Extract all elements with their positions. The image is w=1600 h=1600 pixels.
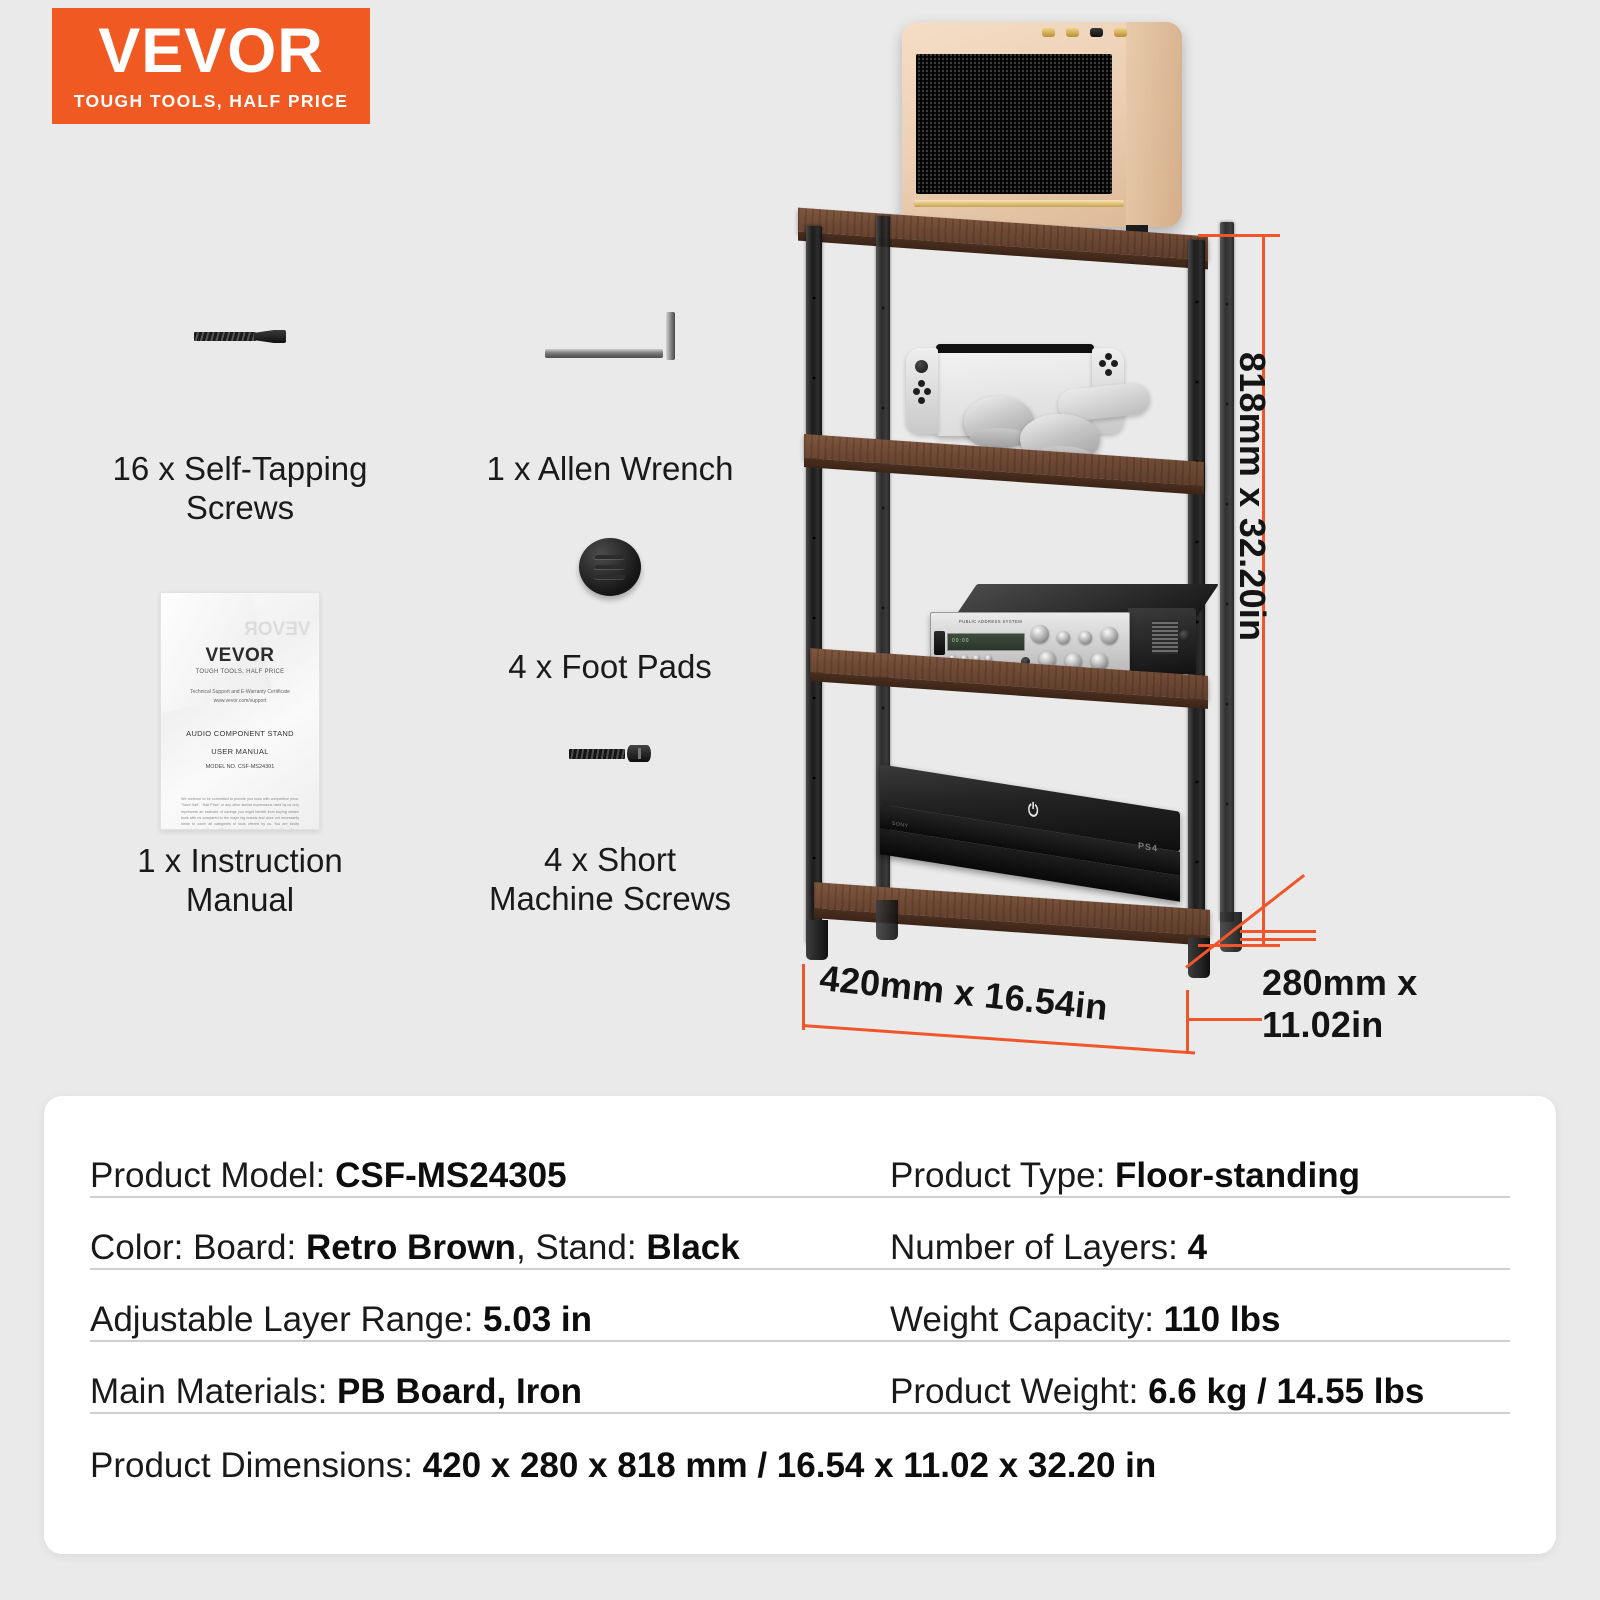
manual-ghost-brand: VEVOR [244, 619, 311, 641]
self-tapping-screw-icon [30, 300, 450, 450]
retro-bluetooth-speaker [902, 22, 1182, 227]
spec-layers: Number of Layers: 4 [890, 1228, 1510, 1268]
dim-width-line [802, 1024, 1195, 1054]
part-item-self-tapping-screws: 16 x Self-Tapping Screws [30, 300, 450, 528]
amplifier-lcd: 00:00 [952, 638, 970, 644]
spec-color: Color: Board: Retro Brown , Stand: Black [90, 1228, 890, 1268]
spec-row-materials-weight: Main Materials: PB Board, Iron Product W… [90, 1342, 1510, 1414]
instruction-manual-icon: VEVOR VEVOR TOUGH TOOLS, HALF PRICE Tech… [30, 590, 450, 842]
vevor-logo: VEVOR TOUGH TOOLS, HALF PRICE [52, 8, 370, 124]
infographic-page: VEVOR TOUGH TOOLS, HALF PRICE 16 x Self-… [0, 0, 1600, 1600]
dim-height-tick-top [1198, 234, 1280, 237]
spec-label-color: Color: Board: [90, 1228, 306, 1268]
spec-value-layers: 4 [1188, 1228, 1207, 1268]
spec-product-model: Product Model: CSF-MS24305 [90, 1156, 890, 1196]
spec-product-type: Product Type: Floor-standing [890, 1156, 1510, 1196]
spec-product-dimensions: Product Dimensions: 420 x 280 x 818 mm /… [90, 1446, 1510, 1486]
part-label-self-tapping-screws: 16 x Self-Tapping Screws [30, 450, 450, 528]
spec-value-main-materials: PB Board, Iron [337, 1372, 582, 1412]
manual-product-title: AUDIO COMPONENT STAND [161, 729, 319, 738]
spec-value-board-color: Retro Brown [306, 1228, 516, 1268]
stand-foot-front-left [806, 920, 828, 960]
dim-depth-label: 280mm x 11.02in [1262, 962, 1418, 1047]
spec-value-product-dimensions: 420 x 280 x 818 mm / 16.54 x 11.02 x 32.… [423, 1446, 1157, 1486]
spec-label-product-dimensions: Product Dimensions: [90, 1446, 423, 1486]
manual-tagline: TOUGH TOOLS, HALF PRICE [161, 669, 319, 675]
part-item-allen-wrench: 1 x Allen Wrench [400, 300, 820, 489]
dim-depth-tick-top2 [1240, 938, 1316, 941]
spec-value-weight-capacity: 110 lbs [1164, 1300, 1281, 1340]
part-label-allen-wrench: 1 x Allen Wrench [400, 450, 820, 489]
brand-tagline: TOUGH TOOLS, HALF PRICE [74, 91, 349, 112]
playstation-logo: ⏻ [1028, 799, 1038, 822]
spec-product-weight: Product Weight: 6.6 kg / 14.55 lbs [890, 1372, 1510, 1412]
dim-width-tick-left [802, 964, 805, 1030]
part-label-instruction-manual: 1 x Instruction Manual [30, 842, 450, 920]
spec-row-dimensions: Product Dimensions: 420 x 280 x 818 mm /… [90, 1414, 1510, 1486]
spec-label-product-weight: Product Weight: [890, 1372, 1148, 1412]
shelf-2-contents [820, 330, 1180, 450]
manual-model-line: MODEL NO. CSF-MS24301 [161, 764, 319, 770]
spec-weight-capacity: Weight Capacity: 110 lbs [890, 1300, 1510, 1340]
allen-wrench-icon [400, 300, 820, 450]
dim-width-tick-right [1186, 990, 1189, 1052]
amplifier-face-text: PUBLIC ADDRESS SYSTEM [959, 619, 1022, 624]
spec-label-product-type: Product Type: [890, 1156, 1115, 1196]
spec-adjustable-range: Adjustable Layer Range: 5.03 in [90, 1300, 890, 1340]
part-item-instruction-manual: VEVOR VEVOR TOUGH TOOLS, HALF PRICE Tech… [30, 590, 450, 920]
spec-value-stand-color: Black [646, 1228, 739, 1268]
part-label-foot-pads: 4 x Foot Pads [400, 648, 820, 687]
spec-value-product-type: Floor-standing [1115, 1156, 1360, 1196]
stand-foot-back-left [876, 900, 898, 940]
spec-value-product-weight: 6.6 kg / 14.55 lbs [1148, 1372, 1424, 1412]
spec-value-adjustable-range: 5.03 in [483, 1300, 592, 1340]
dim-height-label: 818mm x 32.20in [1232, 352, 1272, 641]
spec-label-stand-color: , Stand: [516, 1228, 646, 1268]
dim-depth-tick-top [1240, 930, 1316, 933]
manual-support-text: Technical Support and E-Warranty Certifi… [161, 688, 319, 705]
manual-doc-type: USER MANUAL [161, 747, 319, 756]
brand-wordmark: VEVOR [98, 20, 324, 83]
spec-label-weight-capacity: Weight Capacity: [890, 1300, 1164, 1340]
spec-label-layers: Number of Layers: [890, 1228, 1188, 1268]
spec-row-color-layers: Color: Board: Retro Brown , Stand: Black… [90, 1198, 1510, 1270]
manual-fine-print: We continue to be committed to provide y… [181, 796, 299, 830]
spec-value-product-model: CSF-MS24305 [335, 1156, 566, 1196]
part-item-foot-pads: 4 x Foot Pads 4 x Short Machine Screws [400, 520, 820, 919]
specification-card: Product Model: CSF-MS24305 Product Type:… [44, 1096, 1556, 1554]
spec-row-range-capacity: Adjustable Layer Range: 5.03 in Weight C… [90, 1270, 1510, 1342]
foot-pad-icon [400, 520, 820, 648]
manual-brand: VEVOR [161, 645, 319, 667]
dim-depth-tick-bottom [1186, 1018, 1262, 1021]
spec-label-main-materials: Main Materials: [90, 1372, 337, 1412]
product-render: PUBLIC ADDRESS SYSTEM 00:00 [780, 0, 1300, 1010]
spec-label-product-model: Product Model: [90, 1156, 335, 1196]
short-machine-screw-icon [400, 711, 820, 841]
spec-main-materials: Main Materials: PB Board, Iron [90, 1372, 890, 1412]
spec-row-model-type: Product Model: CSF-MS24305 Product Type:… [90, 1126, 1510, 1198]
part-label-short-machine-screws: 4 x Short Machine Screws [400, 841, 820, 919]
spec-label-adjustable-range: Adjustable Layer Range: [90, 1300, 483, 1340]
